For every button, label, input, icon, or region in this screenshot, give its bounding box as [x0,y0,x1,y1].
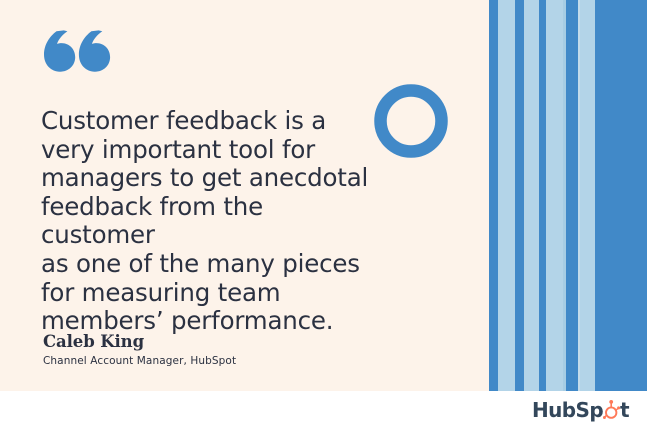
card-upper-band: Customer feedback is a very important to… [0,0,647,391]
stripe-3 [524,0,539,391]
circle-outline-icon [374,84,448,158]
quote-card: Customer feedback is a very important to… [0,0,647,431]
quote-text: Customer feedback is a very important to… [41,107,381,336]
stripe-10 [595,0,647,391]
author-name: Caleb King [43,332,236,351]
hubspot-sprocket-icon [603,400,620,420]
stripe-0 [489,0,498,391]
stripe-7 [566,0,578,391]
logo-text-suffix: t [620,400,629,420]
hubspot-logo: HubSp t [532,398,629,422]
quote-open-icon [43,30,113,92]
stripe-2 [515,0,524,391]
logo-text-prefix: HubSp [532,400,603,420]
stripe-5 [546,0,563,391]
stripe-4 [539,0,546,391]
author-role: Channel Account Manager, HubSpot [43,355,236,368]
stripe-1 [498,0,515,391]
stripe-9 [580,0,595,391]
card-footer: HubSp t [0,391,647,431]
attribution-block: Caleb King Channel Account Manager, HubS… [43,332,236,368]
stripe-decoration-panel [489,0,647,391]
